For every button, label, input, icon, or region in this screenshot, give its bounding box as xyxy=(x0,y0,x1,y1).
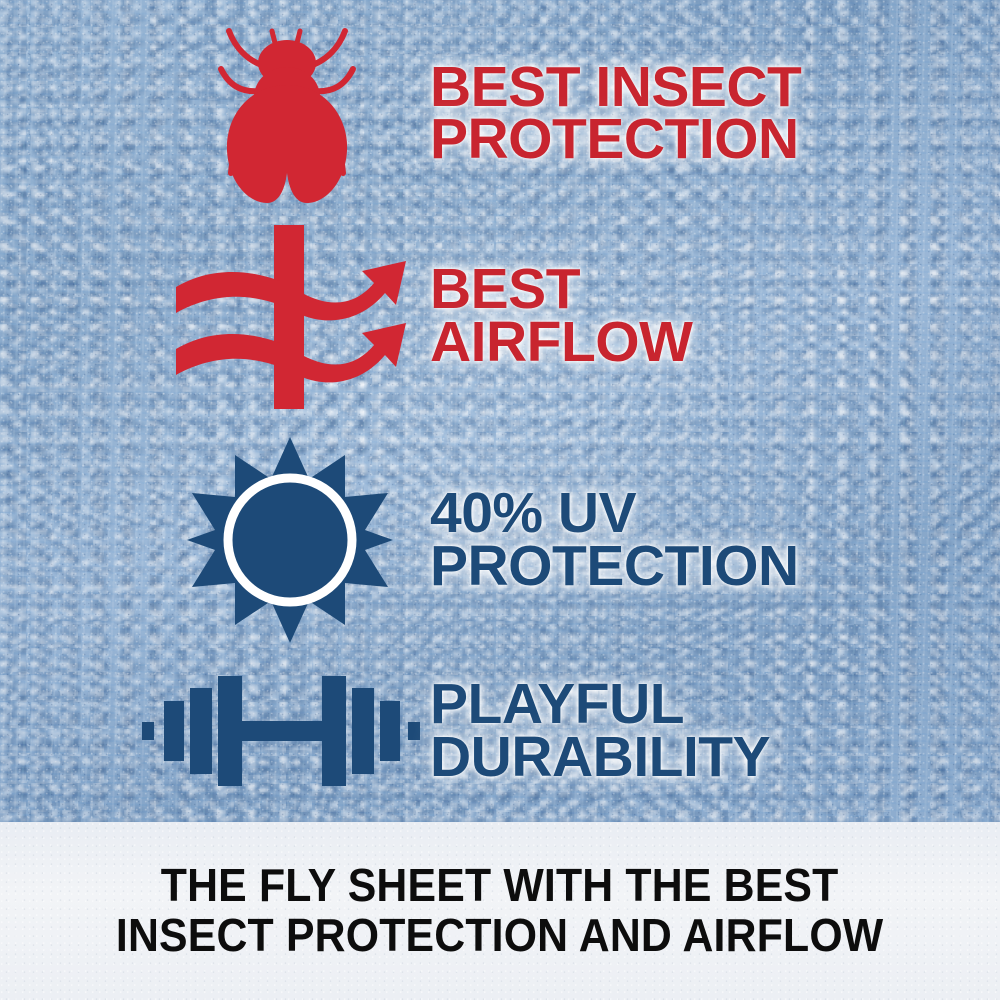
caption-headline: THE FLY SHEET WITH THE BEST INSECT PROTE… xyxy=(116,861,883,960)
airflow-icon xyxy=(150,218,430,413)
feature-label-airflow: BEST AIRFLOW xyxy=(430,263,692,368)
feature-row-airflow: BEST AIRFLOW xyxy=(150,218,970,413)
feature-row-uv-protection: 40% UV PROTECTION xyxy=(150,432,970,647)
sun-uv-icon xyxy=(150,432,430,647)
dumbbell-icon xyxy=(130,648,430,813)
feature-text-uv-protection: 40% UV PROTECTION xyxy=(430,487,799,592)
feature-text-durability: PLAYFUL DURABILITY xyxy=(430,678,770,783)
feature-text-airflow: BEST AIRFLOW xyxy=(430,263,692,368)
feature-label-insect-protection: BEST INSECT PROTECTION xyxy=(430,61,801,166)
fly-icon xyxy=(150,18,430,208)
feature-row-insect-protection: BEST INSECT PROTECTION xyxy=(150,18,970,208)
feature-text-insect-protection: BEST INSECT PROTECTION xyxy=(430,61,801,166)
feature-row-durability: PLAYFUL DURABILITY xyxy=(130,648,970,813)
caption-band: THE FLY SHEET WITH THE BEST INSECT PROTE… xyxy=(0,822,1000,1000)
feature-label-uv-protection: 40% UV PROTECTION xyxy=(430,487,799,592)
product-feature-infographic: BEST INSECT PROTECTION xyxy=(0,0,1000,1000)
feature-label-durability: PLAYFUL DURABILITY xyxy=(430,678,770,783)
